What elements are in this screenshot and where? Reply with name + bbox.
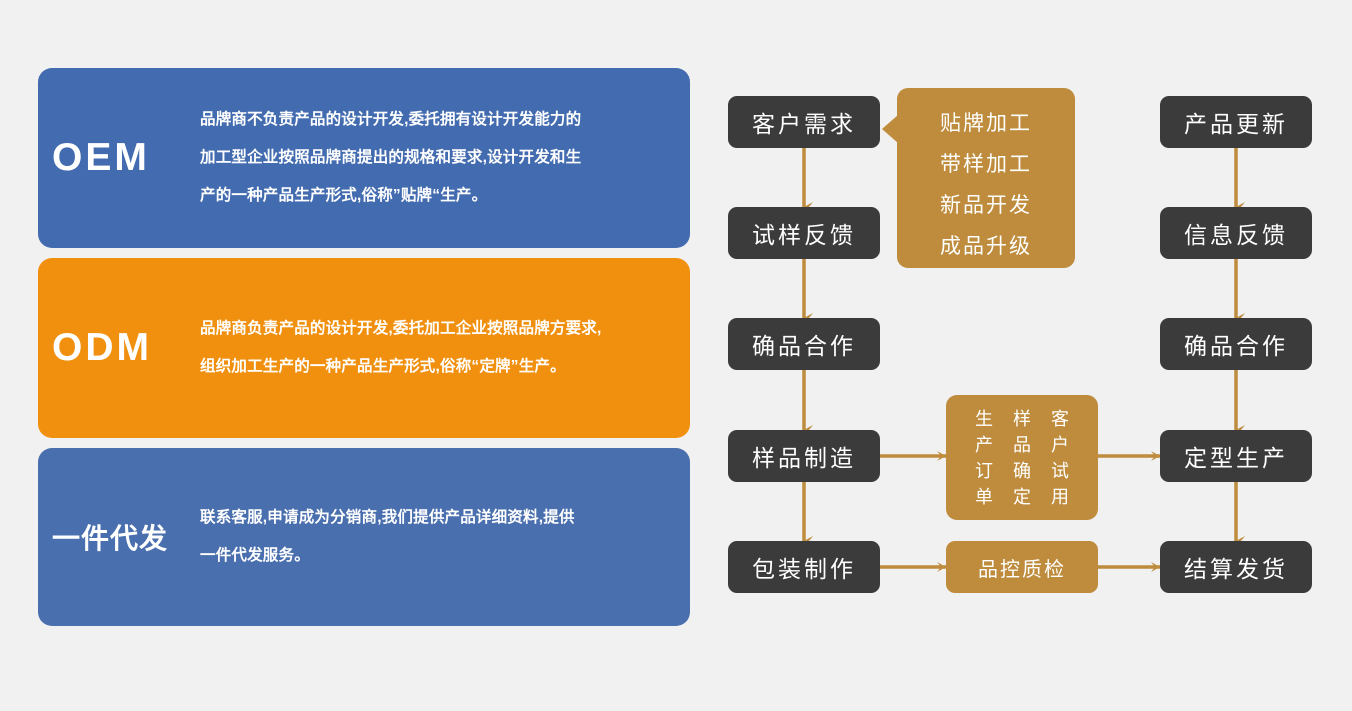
flow-node-settlement-shipping[interactable]: 结算发货 xyxy=(1160,541,1312,593)
flow-node-customer-demand[interactable]: 客户需求 xyxy=(728,96,880,148)
callout-line: 带样加工 xyxy=(897,144,1075,185)
vertical-char: 用 xyxy=(1049,484,1071,510)
service-card-tag: 一件代发 xyxy=(38,517,200,557)
description-line: 品牌商负责产品的设计开发,委托加工企业按照品牌方要求, xyxy=(200,310,664,348)
service-card-description: 品牌商不负责产品的设计开发,委托拥有设计开发能力的 加工型企业按照品牌商提出的规… xyxy=(200,101,690,215)
vertical-text-column-production-order: 生 产 订 单 xyxy=(973,406,995,510)
flow-node-packaging-production[interactable]: 包装制作 xyxy=(728,541,880,593)
description-line: 一件代发服务。 xyxy=(200,537,664,575)
service-card-description: 品牌商负责产品的设计开发,委托加工企业按照品牌方要求, 组织加工生产的一种产品生… xyxy=(200,310,690,386)
vertical-char: 产 xyxy=(973,432,995,458)
flow-node-confirm-cooperation-right[interactable]: 确品合作 xyxy=(1160,318,1312,370)
vertical-char: 样 xyxy=(1011,406,1033,432)
service-card-odm[interactable]: ODM 品牌商负责产品的设计开发,委托加工企业按照品牌方要求, 组织加工生产的一… xyxy=(38,258,690,438)
flow-node-sample-manufacturing[interactable]: 样品制造 xyxy=(728,430,880,482)
vertical-text-column-customer-trial: 客 户 试 用 xyxy=(1049,406,1071,510)
vertical-char: 订 xyxy=(973,458,995,484)
flow-node-customer-trial-group[interactable]: 客 户 试 用 样 品 确 定 生 产 订 单 xyxy=(946,395,1098,520)
vertical-char: 户 xyxy=(1049,432,1071,458)
flow-node-finalized-production[interactable]: 定型生产 xyxy=(1160,430,1312,482)
flow-node-quality-control[interactable]: 品控质检 xyxy=(946,541,1098,593)
callout-line: 成品升级 xyxy=(897,226,1075,267)
vertical-char: 定 xyxy=(1011,484,1033,510)
service-card-tag: OEM xyxy=(38,136,200,180)
service-card-tag: ODM xyxy=(38,326,200,370)
description-line: 联系客服,申请成为分销商,我们提供产品详细资料,提供 xyxy=(200,499,664,537)
vertical-char: 单 xyxy=(973,484,995,510)
description-line: 产的一种产品生产形式,俗称”贴牌“生产。 xyxy=(200,177,664,215)
vertical-char: 生 xyxy=(973,406,995,432)
service-card-description: 联系客服,申请成为分销商,我们提供产品详细资料,提供 一件代发服务。 xyxy=(200,499,690,575)
vertical-char: 试 xyxy=(1049,458,1071,484)
description-line: 品牌商不负责产品的设计开发,委托拥有设计开发能力的 xyxy=(200,101,664,139)
service-card-dropshipping[interactable]: 一件代发 联系客服,申请成为分销商,我们提供产品详细资料,提供 一件代发服务。 xyxy=(38,448,690,626)
flow-node-information-feedback[interactable]: 信息反馈 xyxy=(1160,207,1312,259)
vertical-text-column-sample-confirm: 样 品 确 定 xyxy=(1011,406,1033,510)
service-cards-panel: OEM 品牌商不负责产品的设计开发,委托拥有设计开发能力的 加工型企业按照品牌商… xyxy=(38,68,690,626)
description-line: 组织加工生产的一种产品生产形式,俗称“定牌”生产。 xyxy=(200,348,664,386)
vertical-char: 客 xyxy=(1049,406,1071,432)
vertical-char: 确 xyxy=(1011,458,1033,484)
callout-line: 贴牌加工 xyxy=(897,103,1075,144)
flow-node-sample-feedback[interactable]: 试样反馈 xyxy=(728,207,880,259)
vertical-char: 品 xyxy=(1011,432,1033,458)
flow-node-product-update[interactable]: 产品更新 xyxy=(1160,96,1312,148)
process-flow-diagram: 客户需求 试样反馈 确品合作 样品制造 包装制作 产品更新 信息反馈 确品合作 … xyxy=(700,0,1352,711)
description-line: 加工型企业按照品牌商提出的规格和要求,设计开发和生 xyxy=(200,139,664,177)
callout-services-box: 贴牌加工 带样加工 新品开发 成品升级 xyxy=(897,88,1075,268)
callout-pointer-icon xyxy=(882,115,898,143)
flow-node-confirm-cooperation-left[interactable]: 确品合作 xyxy=(728,318,880,370)
service-card-oem[interactable]: OEM 品牌商不负责产品的设计开发,委托拥有设计开发能力的 加工型企业按照品牌商… xyxy=(38,68,690,248)
callout-line: 新品开发 xyxy=(897,185,1075,226)
